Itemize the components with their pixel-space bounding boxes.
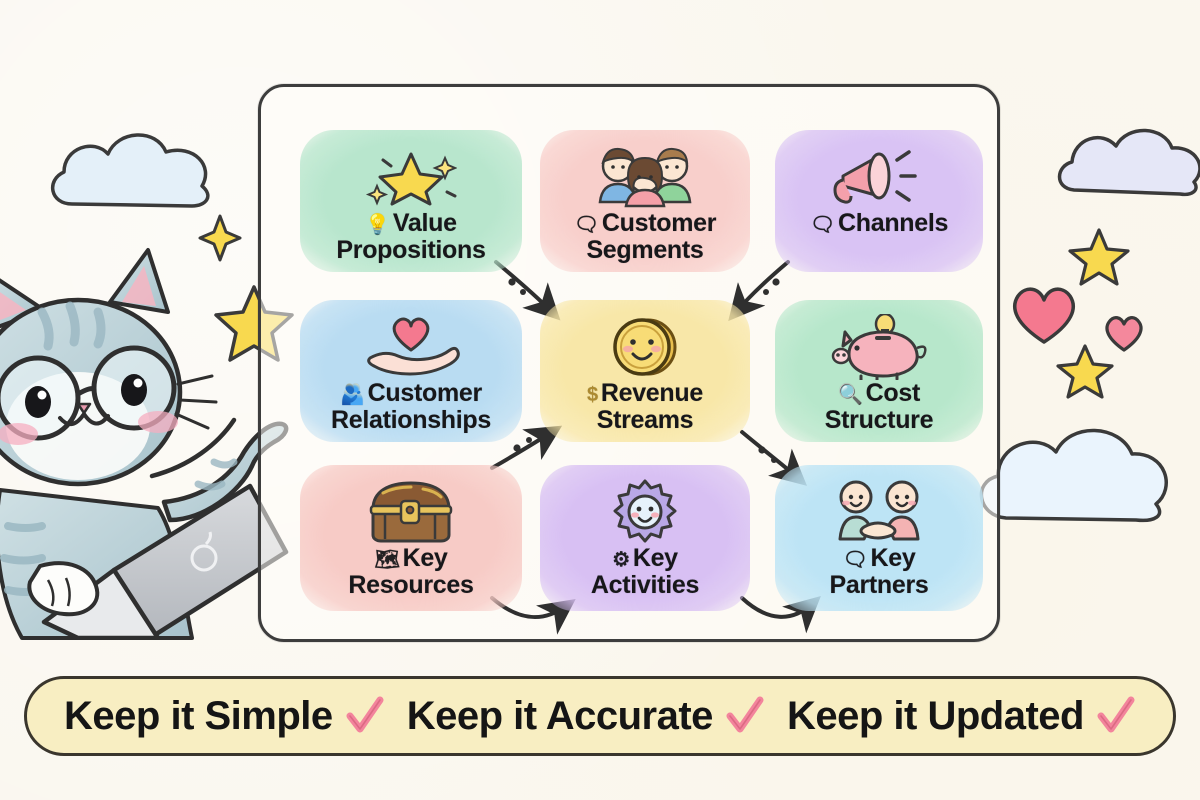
sparkling-star-icon <box>365 146 457 208</box>
check-mark-icon <box>1096 696 1136 736</box>
star-right-lower-icon <box>1056 342 1114 400</box>
check-mark-icon <box>345 696 385 736</box>
card-label: 🗨Key Partners <box>829 545 928 599</box>
megaphone-icon <box>829 146 929 208</box>
banner-item-keep-it-accurate[interactable]: Keep it Accurate <box>407 694 765 739</box>
treasure-chest-icon <box>365 481 457 543</box>
card-label: 🗨Customer Segments <box>574 210 716 264</box>
speech-bubble-icon: 🗨 <box>574 214 599 236</box>
card-label: 💡Value Propositions <box>336 210 485 264</box>
smiling-coin-icon <box>608 316 682 378</box>
canvas-card-cost-structure[interactable]: 🔍Cost Structure <box>775 300 983 442</box>
speech-bubble-icon: 🗨 <box>842 549 867 571</box>
canvas-card-customer-segments[interactable]: 🗨Customer Segments <box>540 130 750 272</box>
heart-right-big-icon <box>1008 282 1080 348</box>
heart-right-small-icon <box>1102 312 1146 354</box>
canvas-card-revenue-streams[interactable]: $Revenue Streams <box>540 300 750 442</box>
banner-item-keep-it-updated[interactable]: Keep it Updated <box>787 694 1136 739</box>
check-mark-icon <box>725 696 765 736</box>
speech-bubble-icon: 🗨 <box>810 214 835 236</box>
piggy-bank-icon <box>827 316 931 378</box>
banner-item-label: Keep it Accurate <box>407 694 713 739</box>
smiling-gear-icon <box>611 481 679 543</box>
card-label: 🗨Channels <box>810 210 948 237</box>
card-label: 🗺Key Resources <box>348 545 473 599</box>
handshake-care-icon: 🫂 <box>340 384 365 406</box>
dollar-sign-icon: $ <box>587 384 598 406</box>
banner-item-label: Keep it Updated <box>787 694 1084 739</box>
magnifier-down-icon: 🔍 <box>838 384 863 406</box>
card-label: ⚙Key Activities <box>591 545 699 599</box>
gear-icon: ⚙ <box>612 549 630 571</box>
banner-item-label: Keep it Simple <box>64 694 333 739</box>
canvas-card-customer-relationships[interactable]: 🫂Customer Relationships <box>300 300 522 442</box>
banner-item-keep-it-simple[interactable]: Keep it Simple <box>64 694 385 739</box>
cloud-top-left-icon <box>42 122 232 222</box>
canvas-card-channels[interactable]: 🗨Channels <box>775 130 983 272</box>
canvas-card-key-activities[interactable]: ⚙Key Activities <box>540 465 750 611</box>
heart-in-hand-icon <box>358 316 464 378</box>
card-label: 🫂Customer Relationships <box>331 380 491 434</box>
canvas-card-key-resources[interactable]: 🗺Key Resources <box>300 465 522 611</box>
cat-illustrator <box>0 240 292 640</box>
family-group-icon <box>590 146 700 208</box>
handshake-people-icon <box>826 481 932 543</box>
card-label: 🔍Cost Structure <box>825 380 933 434</box>
canvas-card-key-partners[interactable]: 🗨Key Partners <box>775 465 983 611</box>
star-right-upper-icon <box>1068 226 1130 288</box>
canvas-card-value-propositions[interactable]: 💡Value Propositions <box>300 130 522 272</box>
cloud-top-right-icon <box>1052 118 1200 204</box>
lightbulb-icon: 💡 <box>365 214 390 236</box>
card-label: $Revenue Streams <box>587 380 703 434</box>
map-icon: 🗺 <box>374 549 399 571</box>
reminder-banner: Keep it Simple Keep it Accurate Keep it … <box>24 676 1176 756</box>
poster-canvas: 💡Value Propositions 🗨Customer S <box>0 0 1200 800</box>
